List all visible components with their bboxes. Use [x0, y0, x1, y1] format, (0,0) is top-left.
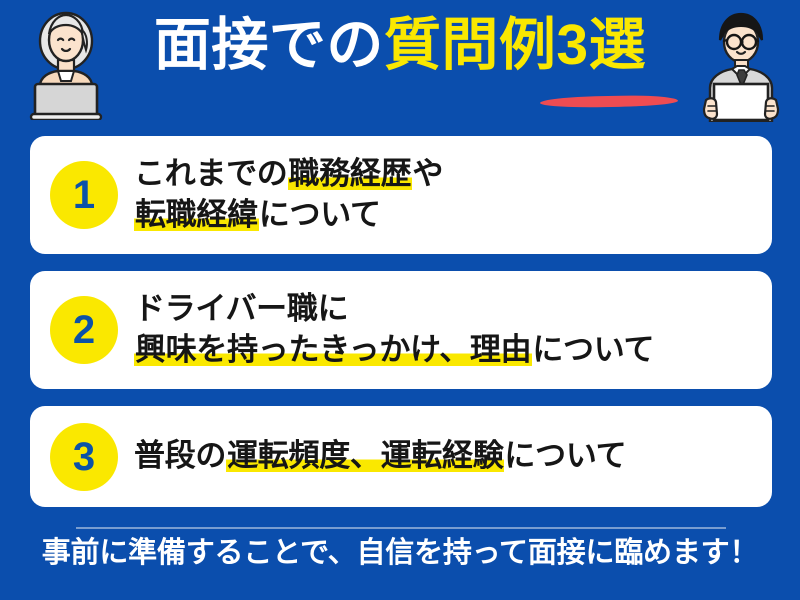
title-yellow-part: 質問例3選	[384, 13, 646, 77]
item-number-badge: 1	[50, 161, 118, 229]
text-highlighted: 転職経緯	[134, 197, 259, 232]
text-highlighted: 興味を持ったきっかけ、理由	[134, 332, 532, 367]
text-plain: ドライバー職に	[134, 291, 348, 326]
list-item[interactable]: 3 普段の運転頻度、運転経験について	[30, 406, 772, 507]
footer-message: 事前に準備することで、自信を持って面接に臨めます！	[0, 536, 800, 571]
text-plain: 普段の	[134, 438, 226, 473]
text-plain: これまでの	[134, 156, 288, 191]
text-plain: や	[412, 156, 443, 191]
footer-divider	[76, 527, 726, 529]
title-white-part: 面接での	[154, 13, 384, 77]
item-text: これまでの職務経歴や 転職経緯について	[134, 154, 754, 236]
text-highlighted: 職務経歴	[288, 156, 413, 191]
red-brush-underline	[540, 95, 678, 109]
text-plain: について	[504, 438, 626, 473]
question-list: 1 これまでの職務経歴や 転職経緯について 2 ドライバー職に 興味を持ったきっ…	[30, 136, 772, 524]
item-number-badge: 2	[50, 296, 118, 364]
man-with-document-illustration	[692, 8, 790, 127]
text-plain: について	[259, 197, 381, 232]
infographic-poster: 面接での質問例3選	[0, 0, 800, 600]
item-text: ドライバー職に 興味を持ったきっかけ、理由について	[134, 289, 754, 371]
item-text-line: 興味を持ったきっかけ、理由について	[134, 330, 754, 371]
text-plain: について	[532, 332, 654, 367]
page-title: 面接での質問例3選	[154, 17, 646, 74]
item-text-line: 転職経緯について	[134, 195, 754, 236]
list-item[interactable]: 1 これまでの職務経歴や 転職経緯について	[30, 136, 772, 254]
item-number-badge: 3	[50, 423, 118, 491]
item-text-line: 普段の運転頻度、運転経験について	[134, 439, 754, 473]
item-text: 普段の運転頻度、運転経験について	[134, 439, 754, 473]
woman-with-laptop-illustration	[18, 8, 114, 125]
header: 面接での質問例3選	[0, 0, 800, 128]
item-text-line: これまでの職務経歴や	[134, 154, 754, 195]
text-highlighted: 運転頻度、運転経験	[226, 438, 504, 473]
item-text-line: ドライバー職に	[134, 289, 754, 330]
list-item[interactable]: 2 ドライバー職に 興味を持ったきっかけ、理由について	[30, 271, 772, 389]
